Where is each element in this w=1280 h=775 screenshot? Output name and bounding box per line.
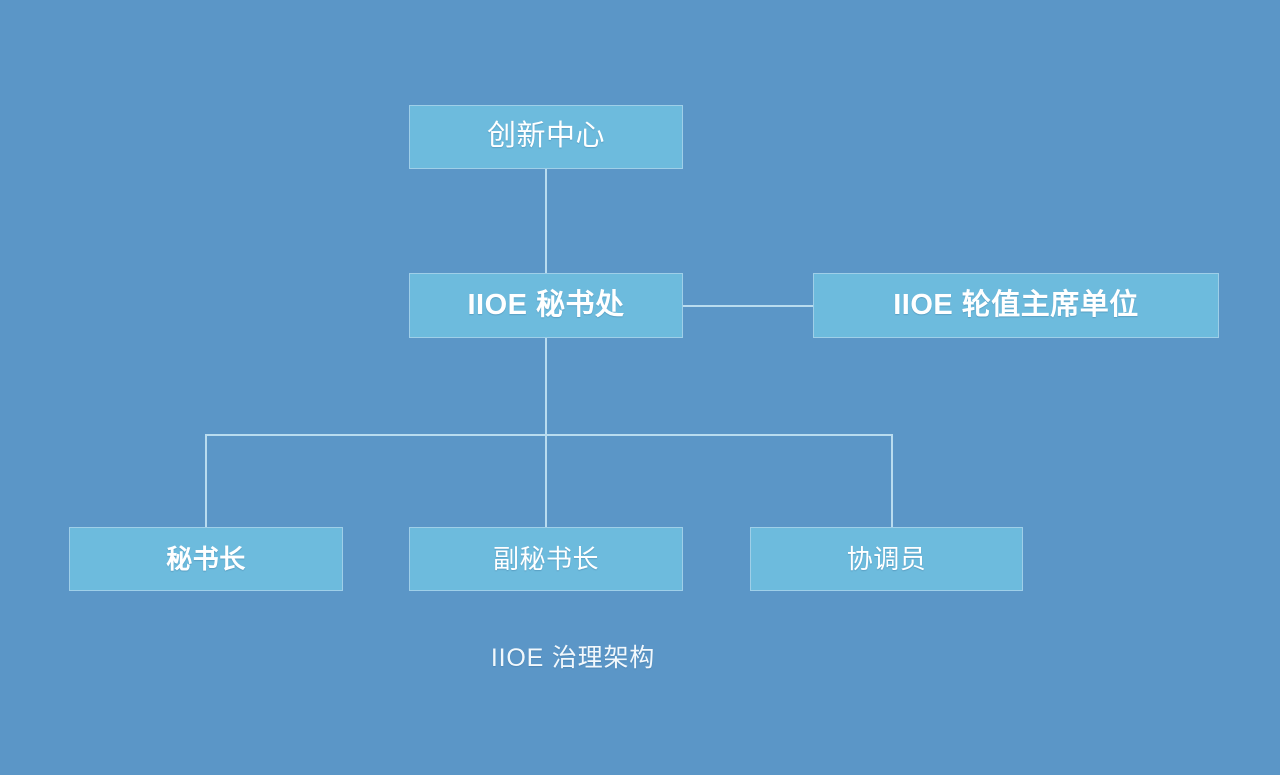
connector-horizontal-bus — [205, 434, 893, 436]
node-deputy-secretary-general-label: 副秘书长 — [493, 545, 599, 574]
connector-secretariat-stem — [545, 338, 547, 434]
node-deputy-secretary-general[interactable]: 副秘书长 — [409, 527, 683, 591]
node-secretary-general-label: 秘书长 — [166, 545, 246, 574]
node-innovation-center-label: 创新中心 — [487, 121, 605, 153]
org-chart-canvas: 创新中心 IIOE 秘书处 IIOE 轮值主席单位 秘书长 副秘书长 协调员 I… — [0, 0, 1280, 775]
node-iioe-secretariat[interactable]: IIOE 秘书处 — [409, 273, 683, 338]
connector-bus-to-deputy-secretary-general — [545, 434, 547, 527]
connector-bus-to-coordinator — [891, 434, 893, 527]
node-innovation-center[interactable]: 创新中心 — [409, 105, 683, 169]
node-coordinator[interactable]: 协调员 — [750, 527, 1023, 591]
node-iioe-secretariat-label: IIOE 秘书处 — [467, 290, 624, 322]
connector-root-to-secretariat — [545, 169, 547, 273]
diagram-caption: IIOE 治理架构 — [0, 638, 1146, 674]
node-coordinator-label: 协调员 — [847, 545, 927, 574]
node-secretary-general[interactable]: 秘书长 — [69, 527, 343, 591]
node-iioe-rotating-chair[interactable]: IIOE 轮值主席单位 — [813, 273, 1219, 338]
connector-secretariat-to-chair — [683, 305, 813, 307]
connector-bus-to-secretary-general — [205, 434, 207, 527]
node-iioe-rotating-chair-label: IIOE 轮值主席单位 — [893, 290, 1139, 322]
